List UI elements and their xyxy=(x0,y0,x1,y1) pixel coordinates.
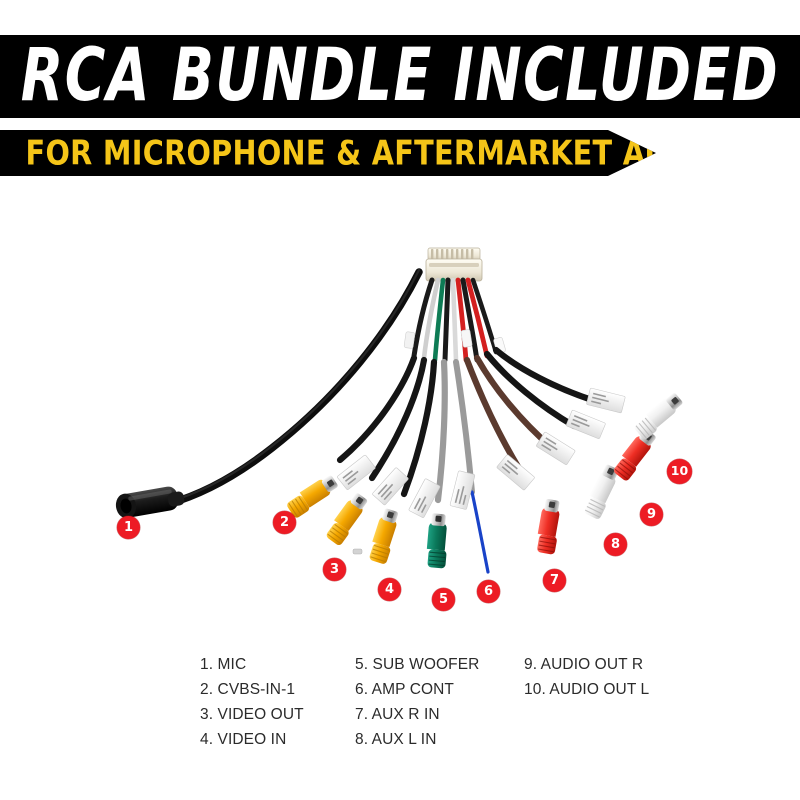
rca-connector-5 xyxy=(425,513,450,569)
legend-item-4: 4. VIDEO IN xyxy=(200,727,304,752)
callout-badge-9: 9 xyxy=(640,503,663,526)
cable-6-wire xyxy=(472,492,488,572)
badge-label: 6 xyxy=(484,585,493,598)
legend-item-8: 8. AUX L IN xyxy=(355,727,479,752)
badge-label: 1 xyxy=(124,521,133,534)
legend-column-2: 5. SUB WOOFER 6. AMP CONT 7. AUX R IN 8.… xyxy=(355,652,479,752)
legend-item-7: 7. AUX R IN xyxy=(355,702,479,727)
legend-item-9: 9. AUDIO OUT R xyxy=(524,652,649,677)
callout-badge-10: 10 xyxy=(667,459,692,484)
legend-item-1: 1. MIC xyxy=(200,652,304,677)
badge-label: 7 xyxy=(550,574,559,587)
badge-label: 10 xyxy=(671,465,688,478)
legend-item-6: 6. AMP CONT xyxy=(355,677,479,702)
badge-label: 4 xyxy=(385,583,394,596)
badge-label: 2 xyxy=(280,516,289,529)
subhead-arrow-banner: FOR MICROPHONE & AFTERMARKET AUDIO xyxy=(0,130,656,176)
headline-banner: RCA BUNDLE INCLUDED xyxy=(0,35,800,118)
callout-badge-3: 3 xyxy=(323,558,346,581)
legend-item-5: 5. SUB WOOFER xyxy=(355,652,479,677)
rca-connector-2 xyxy=(285,473,341,519)
callout-badge-4: 4 xyxy=(378,578,401,601)
loose-metal-pin xyxy=(353,549,362,554)
badge-label: 9 xyxy=(647,508,656,521)
harness-plug-connector xyxy=(426,248,482,281)
rca-connector-9 xyxy=(611,427,660,482)
rca-connector-3 xyxy=(323,491,371,546)
subhead-text: FOR MICROPHONE & AFTERMARKET AUDIO xyxy=(26,136,728,170)
callout-badge-5: 5 xyxy=(432,588,455,611)
cable-label-tags xyxy=(337,388,626,518)
legend-column-3: 9. AUDIO OUT R 10. AUDIO OUT L xyxy=(524,652,649,702)
badge-label: 5 xyxy=(439,593,448,606)
rca-connector-4 xyxy=(367,507,403,565)
legend-item-2: 2. CVBS-IN-1 xyxy=(200,677,304,702)
product-photo xyxy=(0,180,800,640)
badge-label: 8 xyxy=(611,538,620,551)
rca-connector-7 xyxy=(535,498,564,555)
badge-label: 3 xyxy=(330,563,339,576)
legend-column-1: 1. MIC 2. CVBS-IN-1 3. VIDEO OUT 4. VIDE… xyxy=(200,652,304,752)
callout-badge-6: 6 xyxy=(477,580,500,603)
callout-badge-2: 2 xyxy=(273,511,296,534)
rca-connector-10 xyxy=(632,391,686,441)
headline-text: RCA BUNDLE INCLUDED xyxy=(21,40,779,113)
cable-5 xyxy=(438,362,445,500)
legend-item-3: 3. VIDEO OUT xyxy=(200,702,304,727)
product-infographic: RCA BUNDLE INCLUDED FOR MICROPHONE & AFT… xyxy=(0,0,800,800)
callout-badge-7: 7 xyxy=(543,569,566,592)
callout-badge-8: 8 xyxy=(604,533,627,556)
callout-badge-1: 1 xyxy=(117,516,140,539)
connector-legend: 1. MIC 2. CVBS-IN-1 3. VIDEO OUT 4. VIDE… xyxy=(0,652,800,800)
mic-jack-connector xyxy=(114,485,185,520)
legend-item-10: 10. AUDIO OUT L xyxy=(524,677,649,702)
